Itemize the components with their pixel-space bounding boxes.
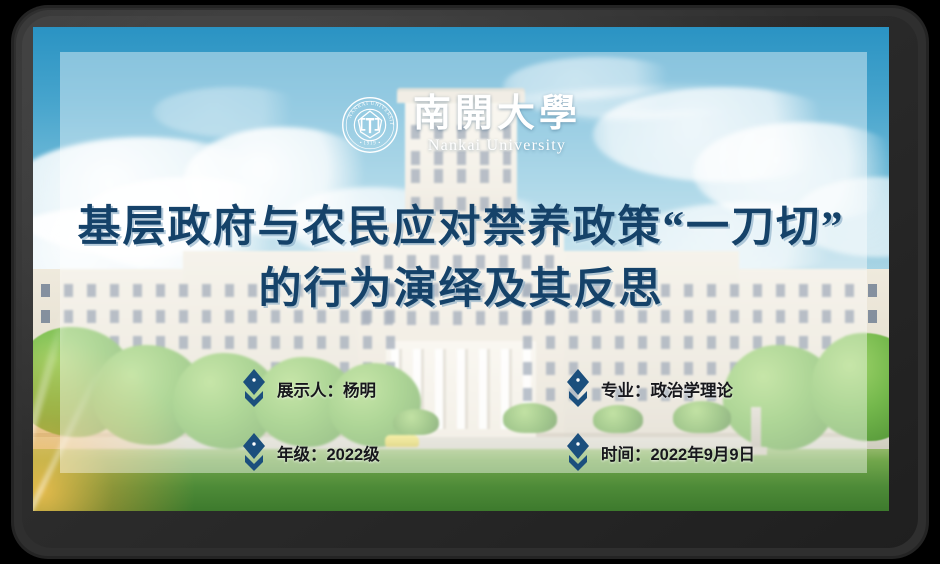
info-text-grade: 年级：2022级 — [277, 441, 380, 465]
info-text-major: 专业：政治学理论 — [601, 377, 733, 401]
slide-title: 基层政府与农民应对禁养政策“一刀切” 的行为演绎及其反思 — [33, 197, 889, 321]
info-label-major: 专业： — [601, 382, 651, 400]
slide-title-line-2: 的行为演绎及其反思 — [33, 259, 889, 321]
info-value-grade: 2022级 — [327, 446, 380, 464]
slide-content: NANKAI UNIVERSITY 1919 南開大學 Nankai Unive… — [33, 27, 889, 511]
diamond-marker-icon — [565, 367, 591, 411]
presenter-info-grid: 展示人：杨明 专业：政治学理论 年级：2 — [33, 367, 889, 475]
university-name-en: Nankai University — [428, 137, 566, 155]
university-name-block: 南開大學 Nankai University — [413, 95, 581, 155]
info-text-date: 时间：2022年9月9日 — [601, 441, 755, 465]
info-value-major: 政治学理论 — [651, 382, 734, 400]
university-branding: NANKAI UNIVERSITY 1919 南開大學 Nankai Unive… — [33, 95, 889, 155]
device-frame: NANKAI UNIVERSITY 1919 南開大學 Nankai Unive… — [0, 0, 940, 564]
info-item-presenter: 展示人：杨明 — [241, 367, 565, 411]
info-text-presenter: 展示人：杨明 — [277, 377, 376, 401]
info-value-presenter: 杨明 — [343, 382, 376, 400]
diamond-marker-icon — [241, 431, 267, 475]
info-label-grade: 年级： — [277, 446, 327, 464]
diamond-marker-icon — [565, 431, 591, 475]
presentation-slide[interactable]: NANKAI UNIVERSITY 1919 南開大學 Nankai Unive… — [33, 27, 889, 511]
svg-text:1919: 1919 — [364, 142, 377, 147]
slide-title-line-1: 基层政府与农民应对禁养政策“一刀切” — [33, 197, 889, 259]
nankai-university-seal-icon: NANKAI UNIVERSITY 1919 — [341, 96, 399, 154]
info-label-date: 时间： — [601, 446, 651, 464]
university-name-cn: 南開大學 — [413, 95, 581, 133]
info-item-grade: 年级：2022级 — [241, 431, 565, 475]
info-item-major: 专业：政治学理论 — [565, 367, 889, 411]
info-label-presenter: 展示人： — [277, 382, 343, 400]
diamond-marker-icon — [241, 367, 267, 411]
info-item-date: 时间：2022年9月9日 — [565, 431, 889, 475]
info-value-date: 2022年9月9日 — [651, 446, 756, 464]
